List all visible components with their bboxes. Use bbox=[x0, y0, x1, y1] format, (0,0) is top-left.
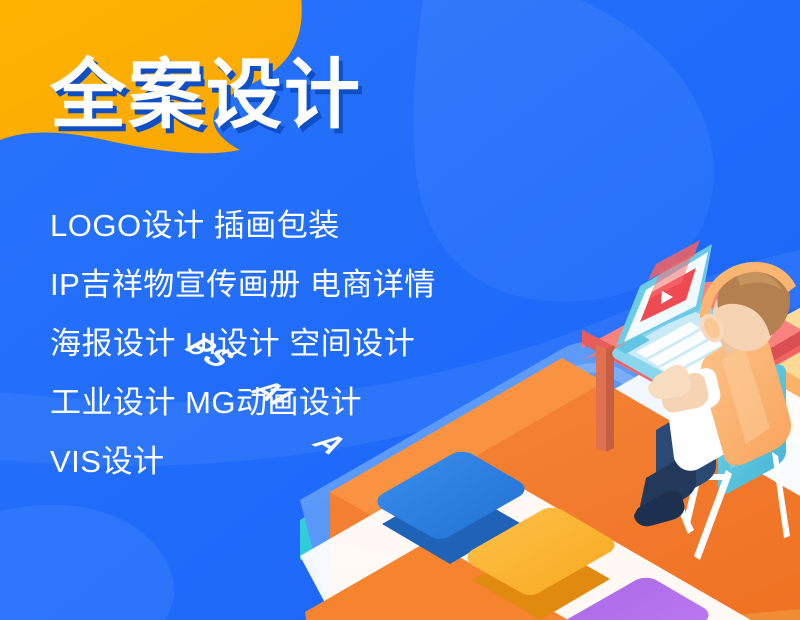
service-item-1: IP吉祥物宣传画册 电商详情 bbox=[50, 255, 610, 314]
service-item-0: LOGO设计 插画包装 bbox=[50, 196, 610, 255]
page-title: 全案设计 bbox=[50, 58, 362, 134]
service-list: LOGO设计 插画包装 IP吉祥物宣传画册 电商详情 海报设计 UI设计 空间设… bbox=[50, 196, 610, 491]
service-item-3: 工业设计 MG动画设计 bbox=[50, 373, 610, 432]
poster-canvas: PS AI A bbox=[0, 0, 800, 620]
service-item-2: 海报设计 UI设计 空间设计 bbox=[50, 314, 610, 373]
service-item-4: VIS设计 bbox=[50, 432, 610, 491]
